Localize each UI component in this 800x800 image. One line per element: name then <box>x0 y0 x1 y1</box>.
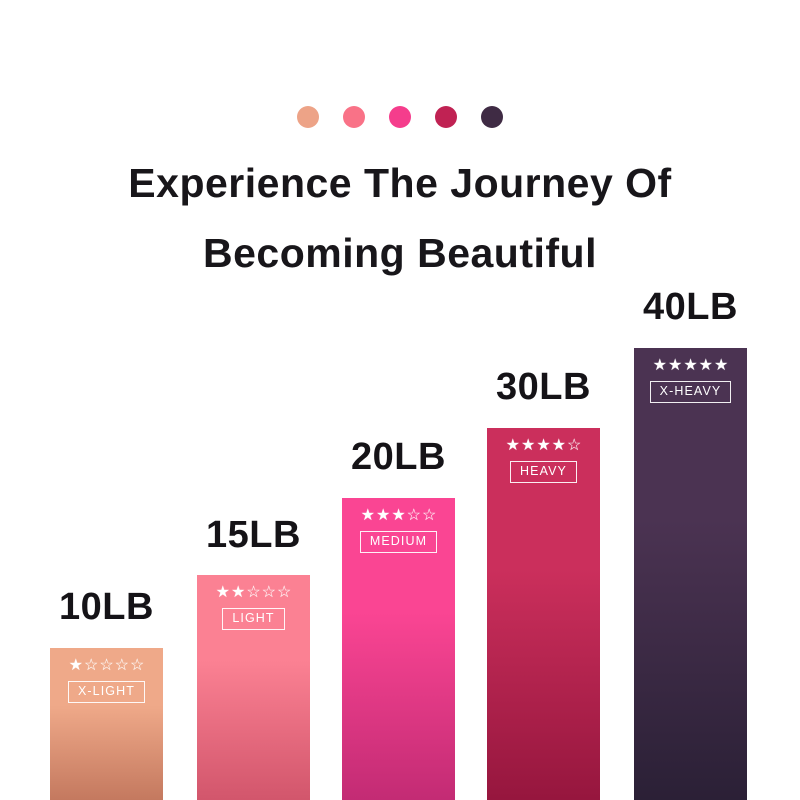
bar-group-15lb[interactable]: 15LB★★☆☆☆LIGHT <box>197 516 310 800</box>
star-filled-icon: ★ <box>653 358 667 374</box>
bar-badge: ★★☆☆☆LIGHT <box>197 585 310 630</box>
star-filled-icon: ★ <box>668 358 682 374</box>
bar-badge: ★★★★★X-HEAVY <box>634 358 747 403</box>
bar-tag-label: X-HEAVY <box>650 381 732 403</box>
star-filled-icon: ★ <box>361 508 375 524</box>
star-rating: ★☆☆☆☆ <box>69 658 145 674</box>
bar-15lb[interactable]: ★★☆☆☆LIGHT <box>197 575 310 800</box>
star-rating: ★★★☆☆ <box>361 508 437 524</box>
bar-tag-label: MEDIUM <box>360 531 437 553</box>
star-filled-icon: ★ <box>536 438 550 454</box>
star-filled-icon: ★ <box>231 585 245 601</box>
star-outline-icon: ☆ <box>407 508 421 524</box>
bar-tag-label: LIGHT <box>222 608 284 630</box>
bar-weight-label: 30LB <box>473 368 614 406</box>
bar-10lb[interactable]: ★☆☆☆☆X-LIGHT <box>50 648 163 800</box>
star-filled-icon: ★ <box>521 438 535 454</box>
bar-group-20lb[interactable]: 20LB★★★☆☆MEDIUM <box>342 438 455 800</box>
star-filled-icon: ★ <box>69 658 83 674</box>
star-rating: ★★☆☆☆ <box>216 585 292 601</box>
star-outline-icon: ☆ <box>422 508 436 524</box>
star-outline-icon: ☆ <box>567 438 581 454</box>
star-outline-icon: ☆ <box>99 658 113 674</box>
star-filled-icon: ★ <box>683 358 697 374</box>
star-filled-icon: ★ <box>506 438 520 454</box>
star-filled-icon: ★ <box>391 508 405 524</box>
star-rating: ★★★★★ <box>653 358 729 374</box>
star-outline-icon: ☆ <box>262 585 276 601</box>
star-filled-icon: ★ <box>699 358 713 374</box>
star-filled-icon: ★ <box>714 358 728 374</box>
resistance-bar-chart: 10LB★☆☆☆☆X-LIGHT15LB★★☆☆☆LIGHT20LB★★★☆☆M… <box>0 0 800 800</box>
star-outline-icon: ☆ <box>130 658 144 674</box>
bar-weight-label: 20LB <box>328 438 469 476</box>
bar-weight-label: 40LB <box>620 288 761 326</box>
bar-group-30lb[interactable]: 30LB★★★★☆HEAVY <box>487 368 600 800</box>
bar-tag-label: X-LIGHT <box>68 681 145 703</box>
star-rating: ★★★★☆ <box>506 438 582 454</box>
star-filled-icon: ★ <box>376 508 390 524</box>
infographic-canvas: Experience The Journey Of Becoming Beaut… <box>0 0 800 800</box>
star-filled-icon: ★ <box>216 585 230 601</box>
star-outline-icon: ☆ <box>115 658 129 674</box>
bar-group-10lb[interactable]: 10LB★☆☆☆☆X-LIGHT <box>50 588 163 800</box>
bar-20lb[interactable]: ★★★☆☆MEDIUM <box>342 498 455 800</box>
star-outline-icon: ☆ <box>84 658 98 674</box>
star-outline-icon: ☆ <box>277 585 291 601</box>
bar-badge: ★★★★☆HEAVY <box>487 438 600 483</box>
bar-group-40lb[interactable]: 40LB★★★★★X-HEAVY <box>634 288 747 800</box>
star-filled-icon: ★ <box>552 438 566 454</box>
bar-weight-label: 10LB <box>36 588 177 626</box>
bar-badge: ★☆☆☆☆X-LIGHT <box>50 658 163 703</box>
bar-30lb[interactable]: ★★★★☆HEAVY <box>487 428 600 800</box>
bar-tag-label: HEAVY <box>510 461 577 483</box>
bar-badge: ★★★☆☆MEDIUM <box>342 508 455 553</box>
bar-40lb[interactable]: ★★★★★X-HEAVY <box>634 348 747 800</box>
star-outline-icon: ☆ <box>246 585 260 601</box>
bar-weight-label: 15LB <box>183 516 324 554</box>
